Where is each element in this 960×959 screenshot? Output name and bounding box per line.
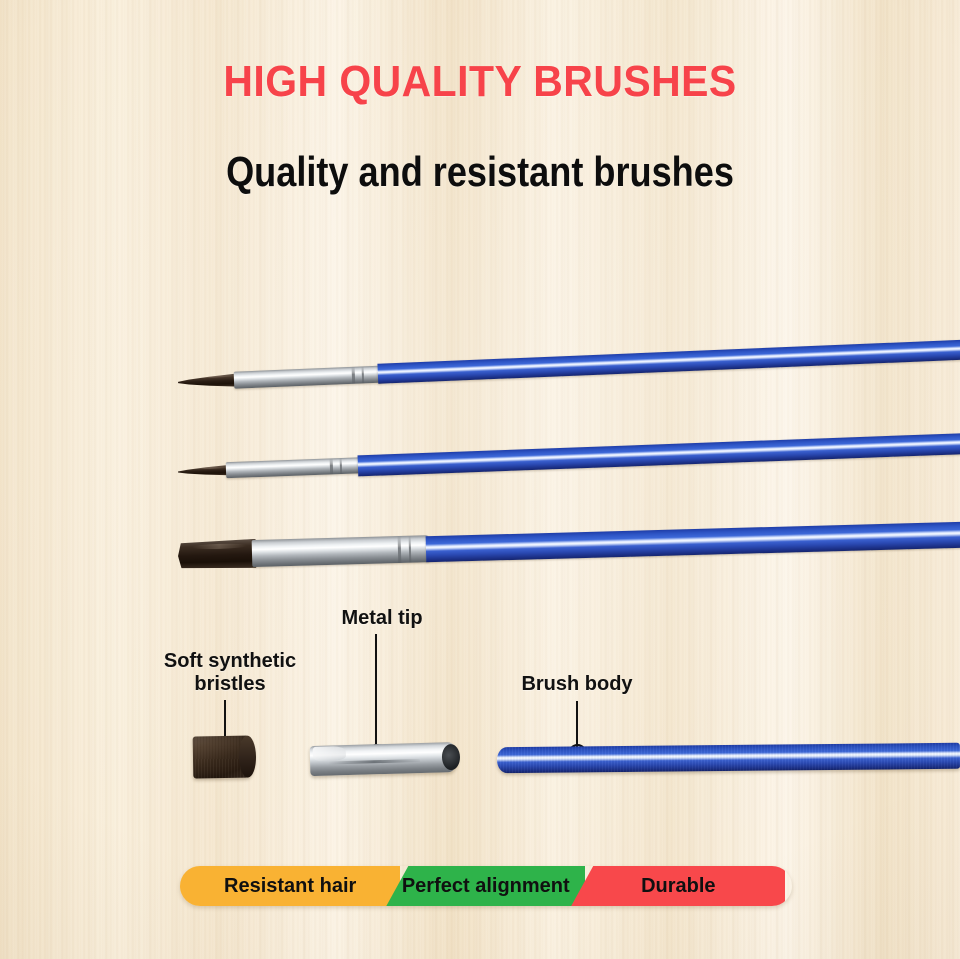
feature-bar: Resistant hair Perfect alignment Durable xyxy=(180,866,792,906)
brush-2-bristle-sheen xyxy=(189,466,231,469)
brush-3-ferrule-crimp-2 xyxy=(409,536,412,563)
callout-leader-line-metal-tip xyxy=(375,634,377,750)
brush-2-ferrule-crimp-2 xyxy=(340,458,343,474)
detail-part-handle-rod xyxy=(497,743,960,773)
infographic-canvas: HIGH QUALITY BRUSHES Quality and resista… xyxy=(0,0,960,959)
ferrule-tube-seam xyxy=(328,759,420,765)
ferrule-tube-notch xyxy=(313,746,346,761)
brush-3-ferrule xyxy=(252,535,431,567)
feature-label-perfect-alignment: Perfect alignment xyxy=(402,875,570,898)
feature-label-resistant-hair: Resistant hair xyxy=(224,875,356,898)
detail-part-ferrule-tube xyxy=(310,742,459,776)
feature-segment-resistant-hair[interactable]: Resistant hair xyxy=(180,866,400,906)
handle-rod-texture xyxy=(497,743,960,773)
bristle-block-end-cap xyxy=(239,735,257,777)
callout-label-metal-tip: Metal tip xyxy=(290,607,474,630)
detail-part-bristle-block xyxy=(193,735,256,778)
feature-segment-durable[interactable]: Durable xyxy=(571,866,785,906)
brush-3-ferrule-crimp xyxy=(398,536,402,563)
brush-2-ferrule-crimp xyxy=(330,458,334,474)
feature-label-durable: Durable xyxy=(641,875,715,898)
callout-label-brush-body: Brush body xyxy=(485,673,669,696)
brush-1-ferrule-crimp xyxy=(352,367,356,384)
background-vignette xyxy=(0,0,960,959)
brush-3-bristle-sheen xyxy=(192,543,247,549)
feature-segment-perfect-alignment[interactable]: Perfect alignment xyxy=(386,866,585,906)
brush-2-ferrule xyxy=(226,457,362,478)
brush-1-bristle-sheen xyxy=(190,375,238,379)
page-subtitle: Quality and resistant brushes xyxy=(67,148,893,196)
page-title: HIGH QUALITY BRUSHES xyxy=(34,57,927,107)
brush-1-ferrule-crimp-2 xyxy=(362,366,365,383)
brush-3-bristles xyxy=(178,539,257,570)
callout-leader-line-brush-body xyxy=(576,701,578,750)
callout-label-bristles: Soft synthetic bristles xyxy=(130,650,330,696)
